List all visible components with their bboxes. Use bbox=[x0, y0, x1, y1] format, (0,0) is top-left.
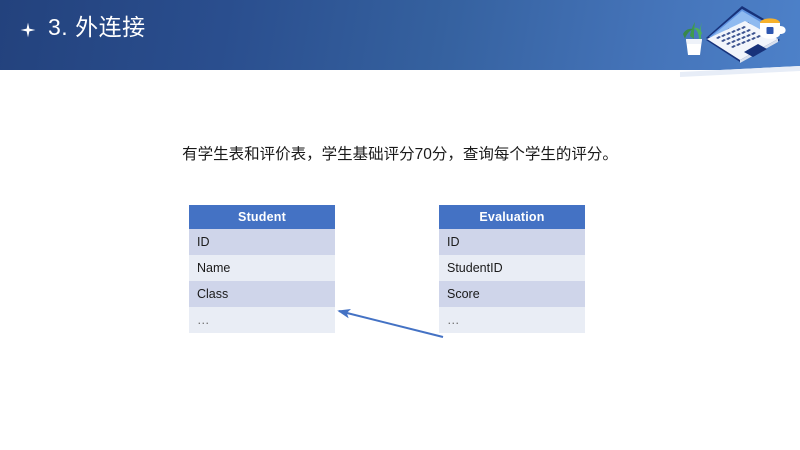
evaluation-table: Evaluation ID StudentID Score … bbox=[439, 205, 585, 333]
table-row: … bbox=[189, 307, 335, 333]
evaluation-field-studentid: StudentID bbox=[439, 255, 585, 281]
student-field-id: ID bbox=[189, 229, 335, 255]
student-field-ellipsis: … bbox=[189, 307, 335, 333]
evaluation-field-ellipsis: … bbox=[439, 307, 585, 333]
table-header-row: Student bbox=[189, 205, 335, 229]
header-title-row: 3. 外连接 bbox=[20, 12, 146, 42]
table-row: ID bbox=[189, 229, 335, 255]
table-row: ID bbox=[439, 229, 585, 255]
student-field-class: Class bbox=[189, 281, 335, 307]
page-title: 3. 外连接 bbox=[48, 12, 146, 42]
question-text: 有学生表和评价表，学生基础评分70分，查询每个学生的评分。 bbox=[0, 144, 800, 166]
table-row: … bbox=[439, 307, 585, 333]
evaluation-field-id: ID bbox=[439, 229, 585, 255]
student-table: Student ID Name Class … bbox=[189, 205, 335, 333]
slide-header: 3. 外连接 bbox=[0, 0, 800, 70]
table-row: StudentID bbox=[439, 255, 585, 281]
sparkle-icon bbox=[20, 22, 36, 38]
student-field-name: Name bbox=[189, 255, 335, 281]
foreign-key-arrow bbox=[325, 295, 455, 350]
table-row: Name bbox=[189, 255, 335, 281]
table-row: Class bbox=[189, 281, 335, 307]
evaluation-field-score: Score bbox=[439, 281, 585, 307]
relation-line bbox=[339, 311, 443, 337]
table-header-row: Evaluation bbox=[439, 205, 585, 229]
slide-body: 有学生表和评价表，学生基础评分70分，查询每个学生的评分。 Student ID… bbox=[0, 70, 800, 450]
mug-icon bbox=[760, 18, 786, 38]
evaluation-table-title: Evaluation bbox=[439, 205, 585, 229]
laptop-icon bbox=[706, 6, 780, 63]
student-table-title: Student bbox=[189, 205, 335, 229]
plant-icon bbox=[683, 22, 702, 55]
table-row: Score bbox=[439, 281, 585, 307]
